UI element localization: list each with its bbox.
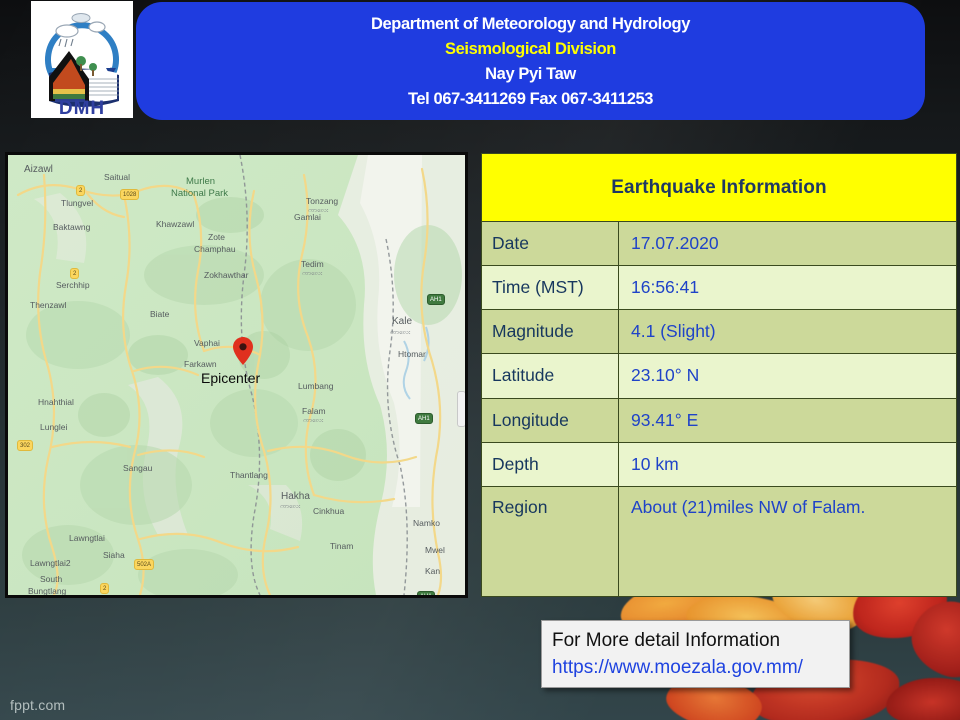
table-row-value: 17.07.2020 bbox=[619, 222, 957, 266]
table-row-key: Latitude bbox=[482, 354, 619, 398]
map-scrollbar[interactable] bbox=[457, 391, 466, 427]
map-road-shield: 502A bbox=[134, 559, 154, 570]
table-row: Time (MST)16:56:41 bbox=[482, 266, 957, 310]
map-road-shield: AH1 bbox=[427, 294, 445, 305]
map-road-shield: 2 bbox=[76, 185, 85, 196]
table-row: Depth10 km bbox=[482, 442, 957, 486]
table-row-value: 93.41° E bbox=[619, 398, 957, 442]
table-row-value: 16:56:41 bbox=[619, 266, 957, 310]
table-row: Longitude93.41° E bbox=[482, 398, 957, 442]
watermark: fppt.com bbox=[10, 697, 65, 713]
table-row-key: Magnitude bbox=[482, 310, 619, 354]
more-info-link[interactable]: https://www.moezala.gov.mm/ bbox=[552, 654, 803, 681]
map-road-shield: 1028 bbox=[120, 189, 139, 200]
map-road-shield: AH1 bbox=[415, 413, 433, 424]
slide-canvas: DMH Department of Meteorology and Hydrol… bbox=[0, 0, 960, 720]
more-info-label: For More detail Information bbox=[552, 627, 849, 654]
earthquake-information-table: Earthquake Information Date17.07.2020Tim… bbox=[481, 153, 957, 597]
table-row-key: Longitude bbox=[482, 398, 619, 442]
map-road-shield: 302 bbox=[17, 440, 33, 451]
table-title: Earthquake Information bbox=[482, 154, 957, 222]
table-row-key: Region bbox=[482, 486, 619, 596]
table-row-key: Date bbox=[482, 222, 619, 266]
header-line-division: Seismological Division bbox=[445, 37, 616, 62]
map-canvas[interactable]: AizawlSaitualMurlenNational ParkTonzangT… bbox=[8, 155, 465, 595]
table-row: Latitude23.10° N bbox=[482, 354, 957, 398]
epicenter-map[interactable]: AizawlSaitualMurlenNational ParkTonzangT… bbox=[5, 152, 468, 598]
table-row-key: Depth bbox=[482, 442, 619, 486]
map-road-shield: 2 bbox=[70, 268, 79, 279]
table-row-key: Time (MST) bbox=[482, 266, 619, 310]
table-row: Date17.07.2020 bbox=[482, 222, 957, 266]
table-title-row: Earthquake Information bbox=[482, 154, 957, 222]
table-row: Magnitude4.1 (Slight) bbox=[482, 310, 957, 354]
table-row-value: 10 km bbox=[619, 442, 957, 486]
svg-text:DMH: DMH bbox=[59, 98, 105, 118]
water-cycle-icon: DMH bbox=[31, 1, 133, 118]
map-road-shield: AH1 bbox=[417, 591, 435, 598]
table-row-value: About (21)miles NW of Falam. bbox=[619, 486, 957, 596]
header-line-contact: Tel 067-3411269 Fax 067-3411253 bbox=[408, 87, 653, 112]
map-road-shield: 2 bbox=[100, 583, 109, 594]
dmh-logo: DMH bbox=[31, 1, 133, 118]
more-info-box[interactable]: For More detail Information https://www.… bbox=[541, 620, 850, 688]
table-row-value: 4.1 (Slight) bbox=[619, 310, 957, 354]
header-banner: Department of Meteorology and Hydrology … bbox=[136, 2, 925, 120]
epicenter-label: Epicenter bbox=[201, 370, 260, 386]
table-row-value: 23.10° N bbox=[619, 354, 957, 398]
header-line-city: Nay Pyi Taw bbox=[485, 62, 576, 87]
header-line-department: Department of Meteorology and Hydrology bbox=[371, 12, 690, 37]
table-row: RegionAbout (21)miles NW of Falam. bbox=[482, 486, 957, 596]
